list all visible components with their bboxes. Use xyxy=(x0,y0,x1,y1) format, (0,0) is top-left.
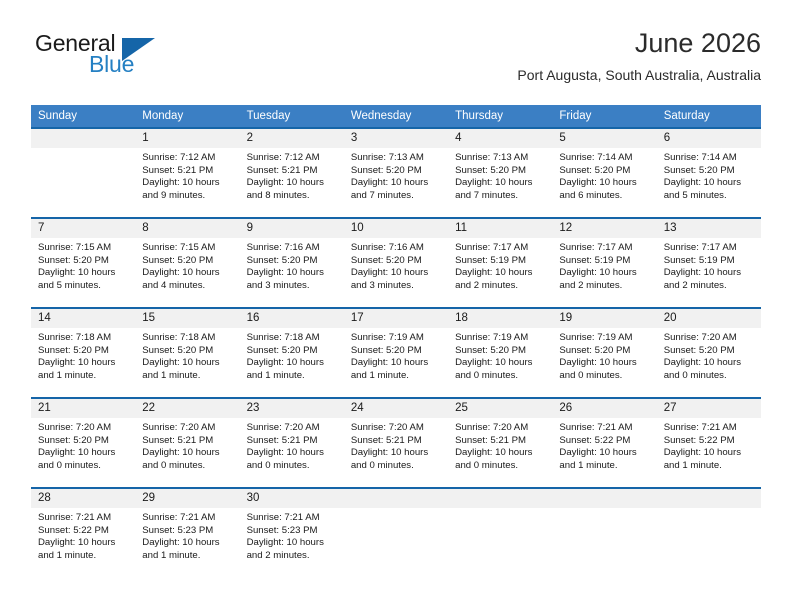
day-number: 25 xyxy=(448,399,552,418)
day-detail-sunset: Sunset: 5:21 PM xyxy=(142,165,234,178)
day-detail-sunset: Sunset: 5:21 PM xyxy=(142,435,234,448)
day-detail-daylight-2: and 1 minute. xyxy=(559,460,651,473)
calendar-day-cell[interactable]: 2Sunrise: 7:12 AMSunset: 5:21 PMDaylight… xyxy=(240,128,344,218)
day-details: Sunrise: 7:20 AMSunset: 5:21 PMDaylight:… xyxy=(135,418,239,472)
day-detail-sunrise: Sunrise: 7:13 AM xyxy=(455,152,547,165)
day-detail-daylight-2: and 5 minutes. xyxy=(38,280,130,293)
day-details: Sunrise: 7:16 AMSunset: 5:20 PMDaylight:… xyxy=(344,238,448,292)
day-detail-sunrise: Sunrise: 7:20 AM xyxy=(38,422,130,435)
day-number: 16 xyxy=(240,309,344,328)
calendar-day-cell[interactable]: 3Sunrise: 7:13 AMSunset: 5:20 PMDaylight… xyxy=(344,128,448,218)
day-detail-sunrise: Sunrise: 7:18 AM xyxy=(247,332,339,345)
day-detail-sunset: Sunset: 5:22 PM xyxy=(559,435,651,448)
day-details: Sunrise: 7:16 AMSunset: 5:20 PMDaylight:… xyxy=(240,238,344,292)
day-number: 29 xyxy=(135,489,239,508)
day-number: 5 xyxy=(552,129,656,148)
day-details: Sunrise: 7:13 AMSunset: 5:20 PMDaylight:… xyxy=(448,148,552,202)
day-detail-sunset: Sunset: 5:20 PM xyxy=(142,345,234,358)
day-detail-daylight-1: Daylight: 10 hours xyxy=(38,267,130,280)
day-detail-daylight-1: Daylight: 10 hours xyxy=(351,177,443,190)
day-detail-sunset: Sunset: 5:20 PM xyxy=(38,255,130,268)
day-detail-daylight-1: Daylight: 10 hours xyxy=(455,177,547,190)
day-detail-sunrise: Sunrise: 7:20 AM xyxy=(664,332,756,345)
day-detail-sunset: Sunset: 5:20 PM xyxy=(455,345,547,358)
calendar-empty-cell xyxy=(657,488,761,577)
day-detail-sunrise: Sunrise: 7:18 AM xyxy=(38,332,130,345)
day-details: Sunrise: 7:17 AMSunset: 5:19 PMDaylight:… xyxy=(448,238,552,292)
day-number: 17 xyxy=(344,309,448,328)
day-number: 3 xyxy=(344,129,448,148)
day-detail-sunset: Sunset: 5:21 PM xyxy=(351,435,443,448)
day-detail-sunset: Sunset: 5:20 PM xyxy=(38,435,130,448)
day-details: Sunrise: 7:12 AMSunset: 5:21 PMDaylight:… xyxy=(135,148,239,202)
day-number: 23 xyxy=(240,399,344,418)
day-detail-daylight-2: and 5 minutes. xyxy=(664,190,756,203)
day-detail-daylight-2: and 7 minutes. xyxy=(351,190,443,203)
day-details: Sunrise: 7:14 AMSunset: 5:20 PMDaylight:… xyxy=(552,148,656,202)
calendar-day-cell[interactable]: 9Sunrise: 7:16 AMSunset: 5:20 PMDaylight… xyxy=(240,218,344,308)
day-details: Sunrise: 7:15 AMSunset: 5:20 PMDaylight:… xyxy=(31,238,135,292)
day-details: Sunrise: 7:14 AMSunset: 5:20 PMDaylight:… xyxy=(657,148,761,202)
day-detail-sunset: Sunset: 5:20 PM xyxy=(455,165,547,178)
day-detail-sunset: Sunset: 5:21 PM xyxy=(247,435,339,448)
day-detail-daylight-2: and 0 minutes. xyxy=(559,370,651,383)
calendar-week-row: 14Sunrise: 7:18 AMSunset: 5:20 PMDayligh… xyxy=(31,308,761,398)
weekday-header-thursday: Thursday xyxy=(448,105,552,128)
day-detail-daylight-1: Daylight: 10 hours xyxy=(664,267,756,280)
day-details: Sunrise: 7:19 AMSunset: 5:20 PMDaylight:… xyxy=(344,328,448,382)
day-number xyxy=(657,489,761,508)
day-detail-sunset: Sunset: 5:19 PM xyxy=(664,255,756,268)
day-details: Sunrise: 7:19 AMSunset: 5:20 PMDaylight:… xyxy=(448,328,552,382)
day-details: Sunrise: 7:17 AMSunset: 5:19 PMDaylight:… xyxy=(657,238,761,292)
day-detail-sunrise: Sunrise: 7:20 AM xyxy=(142,422,234,435)
day-detail-daylight-1: Daylight: 10 hours xyxy=(247,447,339,460)
calendar-day-cell[interactable]: 21Sunrise: 7:20 AMSunset: 5:20 PMDayligh… xyxy=(31,398,135,488)
day-detail-daylight-1: Daylight: 10 hours xyxy=(455,447,547,460)
calendar-body: 1Sunrise: 7:12 AMSunset: 5:21 PMDaylight… xyxy=(31,128,761,577)
day-details: Sunrise: 7:20 AMSunset: 5:20 PMDaylight:… xyxy=(31,418,135,472)
day-number: 24 xyxy=(344,399,448,418)
day-detail-sunrise: Sunrise: 7:17 AM xyxy=(455,242,547,255)
day-detail-sunrise: Sunrise: 7:15 AM xyxy=(38,242,130,255)
day-number: 18 xyxy=(448,309,552,328)
calendar-day-cell[interactable]: 25Sunrise: 7:20 AMSunset: 5:21 PMDayligh… xyxy=(448,398,552,488)
day-detail-sunrise: Sunrise: 7:20 AM xyxy=(247,422,339,435)
day-detail-sunrise: Sunrise: 7:16 AM xyxy=(351,242,443,255)
day-detail-daylight-2: and 1 minute. xyxy=(664,460,756,473)
day-number: 20 xyxy=(657,309,761,328)
day-detail-sunrise: Sunrise: 7:20 AM xyxy=(351,422,443,435)
weekday-header-saturday: Saturday xyxy=(657,105,761,128)
day-detail-sunrise: Sunrise: 7:21 AM xyxy=(664,422,756,435)
day-detail-sunrise: Sunrise: 7:19 AM xyxy=(559,332,651,345)
calendar-week-row: 21Sunrise: 7:20 AMSunset: 5:20 PMDayligh… xyxy=(31,398,761,488)
day-detail-sunset: Sunset: 5:20 PM xyxy=(664,165,756,178)
calendar-day-cell[interactable]: 29Sunrise: 7:21 AMSunset: 5:23 PMDayligh… xyxy=(135,488,239,577)
day-number xyxy=(31,129,135,148)
day-detail-daylight-1: Daylight: 10 hours xyxy=(559,447,651,460)
day-detail-daylight-2: and 3 minutes. xyxy=(351,280,443,293)
day-detail-daylight-1: Daylight: 10 hours xyxy=(38,447,130,460)
day-detail-daylight-2: and 4 minutes. xyxy=(142,280,234,293)
calendar-empty-cell xyxy=(552,488,656,577)
calendar-day-cell[interactable]: 30Sunrise: 7:21 AMSunset: 5:23 PMDayligh… xyxy=(240,488,344,577)
day-detail-daylight-2: and 0 minutes. xyxy=(142,460,234,473)
day-detail-sunset: Sunset: 5:20 PM xyxy=(559,165,651,178)
calendar-day-cell[interactable]: 7Sunrise: 7:15 AMSunset: 5:20 PMDaylight… xyxy=(31,218,135,308)
day-details: Sunrise: 7:18 AMSunset: 5:20 PMDaylight:… xyxy=(240,328,344,382)
calendar-empty-cell xyxy=(448,488,552,577)
calendar-day-cell[interactable]: 28Sunrise: 7:21 AMSunset: 5:22 PMDayligh… xyxy=(31,488,135,577)
day-detail-sunrise: Sunrise: 7:13 AM xyxy=(351,152,443,165)
day-detail-daylight-1: Daylight: 10 hours xyxy=(247,357,339,370)
day-detail-sunset: Sunset: 5:22 PM xyxy=(38,525,130,538)
sunrise-sunset-calendar: Sunday Monday Tuesday Wednesday Thursday… xyxy=(31,105,761,577)
day-detail-daylight-1: Daylight: 10 hours xyxy=(559,357,651,370)
day-detail-sunset: Sunset: 5:22 PM xyxy=(664,435,756,448)
calendar-day-cell[interactable]: 24Sunrise: 7:20 AMSunset: 5:21 PMDayligh… xyxy=(344,398,448,488)
day-detail-daylight-2: and 0 minutes. xyxy=(247,460,339,473)
day-detail-daylight-1: Daylight: 10 hours xyxy=(455,357,547,370)
day-details: Sunrise: 7:17 AMSunset: 5:19 PMDaylight:… xyxy=(552,238,656,292)
calendar-day-cell[interactable]: 11Sunrise: 7:17 AMSunset: 5:19 PMDayligh… xyxy=(448,218,552,308)
day-detail-daylight-1: Daylight: 10 hours xyxy=(664,357,756,370)
day-detail-daylight-1: Daylight: 10 hours xyxy=(142,537,234,550)
day-detail-daylight-1: Daylight: 10 hours xyxy=(664,447,756,460)
day-detail-daylight-1: Daylight: 10 hours xyxy=(247,267,339,280)
day-detail-sunset: Sunset: 5:19 PM xyxy=(559,255,651,268)
day-number: 1 xyxy=(135,129,239,148)
calendar-day-cell[interactable]: 13Sunrise: 7:17 AMSunset: 5:19 PMDayligh… xyxy=(657,218,761,308)
calendar-day-cell[interactable]: 19Sunrise: 7:19 AMSunset: 5:20 PMDayligh… xyxy=(552,308,656,398)
day-details: Sunrise: 7:20 AMSunset: 5:21 PMDaylight:… xyxy=(344,418,448,472)
day-number: 7 xyxy=(31,219,135,238)
day-details: Sunrise: 7:21 AMSunset: 5:22 PMDaylight:… xyxy=(657,418,761,472)
calendar-day-cell[interactable]: 23Sunrise: 7:20 AMSunset: 5:21 PMDayligh… xyxy=(240,398,344,488)
day-detail-daylight-2: and 7 minutes. xyxy=(455,190,547,203)
page-header: General Blue June 2026 Port Augusta, Sou… xyxy=(31,26,761,98)
day-detail-sunrise: Sunrise: 7:21 AM xyxy=(247,512,339,525)
day-detail-daylight-2: and 3 minutes. xyxy=(247,280,339,293)
day-details: Sunrise: 7:20 AMSunset: 5:21 PMDaylight:… xyxy=(240,418,344,472)
day-detail-daylight-1: Daylight: 10 hours xyxy=(142,177,234,190)
day-detail-sunset: Sunset: 5:20 PM xyxy=(664,345,756,358)
day-details: Sunrise: 7:21 AMSunset: 5:22 PMDaylight:… xyxy=(552,418,656,472)
page-title: June 2026 xyxy=(517,26,761,60)
day-number: 27 xyxy=(657,399,761,418)
day-detail-daylight-2: and 1 minute. xyxy=(351,370,443,383)
day-detail-sunset: Sunset: 5:20 PM xyxy=(38,345,130,358)
calendar-day-cell[interactable]: 26Sunrise: 7:21 AMSunset: 5:22 PMDayligh… xyxy=(552,398,656,488)
calendar-day-cell[interactable]: 10Sunrise: 7:16 AMSunset: 5:20 PMDayligh… xyxy=(344,218,448,308)
day-details: Sunrise: 7:20 AMSunset: 5:21 PMDaylight:… xyxy=(448,418,552,472)
day-number: 6 xyxy=(657,129,761,148)
calendar-day-cell[interactable]: 4Sunrise: 7:13 AMSunset: 5:20 PMDaylight… xyxy=(448,128,552,218)
day-number: 19 xyxy=(552,309,656,328)
calendar-week-row: 7Sunrise: 7:15 AMSunset: 5:20 PMDaylight… xyxy=(31,218,761,308)
calendar-empty-cell xyxy=(31,128,135,218)
day-detail-sunset: Sunset: 5:21 PM xyxy=(455,435,547,448)
day-detail-sunset: Sunset: 5:20 PM xyxy=(351,255,443,268)
day-detail-daylight-2: and 1 minute. xyxy=(142,370,234,383)
day-details: Sunrise: 7:18 AMSunset: 5:20 PMDaylight:… xyxy=(135,328,239,382)
day-detail-sunrise: Sunrise: 7:21 AM xyxy=(559,422,651,435)
day-number: 26 xyxy=(552,399,656,418)
day-detail-daylight-1: Daylight: 10 hours xyxy=(247,537,339,550)
day-number: 8 xyxy=(135,219,239,238)
day-number: 9 xyxy=(240,219,344,238)
day-detail-daylight-2: and 1 minute. xyxy=(142,550,234,563)
day-details: Sunrise: 7:18 AMSunset: 5:20 PMDaylight:… xyxy=(31,328,135,382)
day-detail-daylight-2: and 9 minutes. xyxy=(142,190,234,203)
day-detail-sunrise: Sunrise: 7:12 AM xyxy=(247,152,339,165)
day-detail-daylight-2: and 1 minute. xyxy=(38,550,130,563)
day-number: 28 xyxy=(31,489,135,508)
weekday-header-sunday: Sunday xyxy=(31,105,135,128)
calendar-day-cell[interactable]: 17Sunrise: 7:19 AMSunset: 5:20 PMDayligh… xyxy=(344,308,448,398)
day-number: 10 xyxy=(344,219,448,238)
calendar-day-cell[interactable]: 20Sunrise: 7:20 AMSunset: 5:20 PMDayligh… xyxy=(657,308,761,398)
day-detail-daylight-2: and 0 minutes. xyxy=(38,460,130,473)
calendar-week-row: 1Sunrise: 7:12 AMSunset: 5:21 PMDaylight… xyxy=(31,128,761,218)
calendar-day-cell[interactable]: 15Sunrise: 7:18 AMSunset: 5:20 PMDayligh… xyxy=(135,308,239,398)
day-detail-sunset: Sunset: 5:19 PM xyxy=(455,255,547,268)
day-detail-sunrise: Sunrise: 7:20 AM xyxy=(455,422,547,435)
day-details: Sunrise: 7:12 AMSunset: 5:21 PMDaylight:… xyxy=(240,148,344,202)
day-detail-sunset: Sunset: 5:21 PM xyxy=(247,165,339,178)
calendar-day-cell[interactable]: 1Sunrise: 7:12 AMSunset: 5:21 PMDaylight… xyxy=(135,128,239,218)
day-detail-daylight-1: Daylight: 10 hours xyxy=(559,177,651,190)
day-detail-daylight-2: and 1 minute. xyxy=(38,370,130,383)
day-detail-daylight-1: Daylight: 10 hours xyxy=(664,177,756,190)
day-detail-daylight-1: Daylight: 10 hours xyxy=(38,537,130,550)
day-number: 15 xyxy=(135,309,239,328)
location-subtitle: Port Augusta, South Australia, Australia xyxy=(517,64,761,86)
day-detail-daylight-1: Daylight: 10 hours xyxy=(142,447,234,460)
logo-text-blue: Blue xyxy=(89,51,134,78)
day-number xyxy=(552,489,656,508)
day-detail-daylight-1: Daylight: 10 hours xyxy=(455,267,547,280)
day-detail-daylight-1: Daylight: 10 hours xyxy=(142,357,234,370)
day-detail-daylight-1: Daylight: 10 hours xyxy=(559,267,651,280)
calendar-day-cell[interactable]: 16Sunrise: 7:18 AMSunset: 5:20 PMDayligh… xyxy=(240,308,344,398)
day-detail-sunset: Sunset: 5:23 PM xyxy=(142,525,234,538)
day-detail-sunrise: Sunrise: 7:15 AM xyxy=(142,242,234,255)
day-number: 12 xyxy=(552,219,656,238)
day-detail-sunrise: Sunrise: 7:12 AM xyxy=(142,152,234,165)
day-detail-sunset: Sunset: 5:23 PM xyxy=(247,525,339,538)
day-details: Sunrise: 7:19 AMSunset: 5:20 PMDaylight:… xyxy=(552,328,656,382)
calendar-day-cell[interactable]: 6Sunrise: 7:14 AMSunset: 5:20 PMDaylight… xyxy=(657,128,761,218)
day-detail-sunrise: Sunrise: 7:14 AM xyxy=(664,152,756,165)
day-detail-daylight-2: and 2 minutes. xyxy=(559,280,651,293)
day-number: 2 xyxy=(240,129,344,148)
weekday-header-wednesday: Wednesday xyxy=(344,105,448,128)
day-detail-daylight-2: and 0 minutes. xyxy=(351,460,443,473)
day-detail-daylight-2: and 2 minutes. xyxy=(455,280,547,293)
day-detail-sunset: Sunset: 5:20 PM xyxy=(559,345,651,358)
day-detail-sunrise: Sunrise: 7:21 AM xyxy=(142,512,234,525)
day-number xyxy=(344,489,448,508)
weekday-header-monday: Monday xyxy=(135,105,239,128)
calendar-day-cell[interactable]: 12Sunrise: 7:17 AMSunset: 5:19 PMDayligh… xyxy=(552,218,656,308)
day-detail-daylight-2: and 0 minutes. xyxy=(664,370,756,383)
weekday-header-row: Sunday Monday Tuesday Wednesday Thursday… xyxy=(31,105,761,128)
day-detail-sunrise: Sunrise: 7:18 AM xyxy=(142,332,234,345)
day-detail-daylight-2: and 2 minutes. xyxy=(247,550,339,563)
calendar-day-cell[interactable]: 8Sunrise: 7:15 AMSunset: 5:20 PMDaylight… xyxy=(135,218,239,308)
day-detail-daylight-2: and 0 minutes. xyxy=(455,460,547,473)
day-detail-sunset: Sunset: 5:20 PM xyxy=(351,345,443,358)
day-detail-sunrise: Sunrise: 7:16 AM xyxy=(247,242,339,255)
calendar-week-row: 28Sunrise: 7:21 AMSunset: 5:22 PMDayligh… xyxy=(31,488,761,577)
day-detail-daylight-2: and 6 minutes. xyxy=(559,190,651,203)
day-details: Sunrise: 7:13 AMSunset: 5:20 PMDaylight:… xyxy=(344,148,448,202)
day-detail-sunrise: Sunrise: 7:14 AM xyxy=(559,152,651,165)
day-detail-sunset: Sunset: 5:20 PM xyxy=(142,255,234,268)
weekday-header-friday: Friday xyxy=(552,105,656,128)
day-detail-sunrise: Sunrise: 7:17 AM xyxy=(664,242,756,255)
day-detail-sunset: Sunset: 5:20 PM xyxy=(351,165,443,178)
day-number: 14 xyxy=(31,309,135,328)
day-number xyxy=(448,489,552,508)
day-detail-daylight-2: and 2 minutes. xyxy=(664,280,756,293)
day-detail-sunrise: Sunrise: 7:19 AM xyxy=(351,332,443,345)
day-details: Sunrise: 7:21 AMSunset: 5:23 PMDaylight:… xyxy=(240,508,344,562)
calendar-day-cell[interactable]: 14Sunrise: 7:18 AMSunset: 5:20 PMDayligh… xyxy=(31,308,135,398)
day-detail-sunrise: Sunrise: 7:19 AM xyxy=(455,332,547,345)
calendar-day-cell[interactable]: 27Sunrise: 7:21 AMSunset: 5:22 PMDayligh… xyxy=(657,398,761,488)
day-details: Sunrise: 7:15 AMSunset: 5:20 PMDaylight:… xyxy=(135,238,239,292)
day-number: 22 xyxy=(135,399,239,418)
generalblue-logo: General Blue xyxy=(31,28,221,84)
day-number: 4 xyxy=(448,129,552,148)
day-detail-daylight-1: Daylight: 10 hours xyxy=(38,357,130,370)
day-detail-daylight-1: Daylight: 10 hours xyxy=(351,267,443,280)
day-number: 13 xyxy=(657,219,761,238)
weekday-header-tuesday: Tuesday xyxy=(240,105,344,128)
day-detail-sunrise: Sunrise: 7:21 AM xyxy=(38,512,130,525)
day-detail-daylight-1: Daylight: 10 hours xyxy=(351,447,443,460)
day-detail-daylight-2: and 1 minute. xyxy=(247,370,339,383)
day-detail-daylight-1: Daylight: 10 hours xyxy=(142,267,234,280)
day-details: Sunrise: 7:21 AMSunset: 5:23 PMDaylight:… xyxy=(135,508,239,562)
day-detail-daylight-2: and 8 minutes. xyxy=(247,190,339,203)
day-detail-sunrise: Sunrise: 7:17 AM xyxy=(559,242,651,255)
title-block: June 2026 Port Augusta, South Australia,… xyxy=(517,26,761,86)
day-number: 30 xyxy=(240,489,344,508)
day-number: 21 xyxy=(31,399,135,418)
calendar-day-cell[interactable]: 22Sunrise: 7:20 AMSunset: 5:21 PMDayligh… xyxy=(135,398,239,488)
calendar-page: General Blue June 2026 Port Augusta, Sou… xyxy=(0,0,792,612)
day-detail-daylight-1: Daylight: 10 hours xyxy=(351,357,443,370)
day-number: 11 xyxy=(448,219,552,238)
calendar-day-cell[interactable]: 18Sunrise: 7:19 AMSunset: 5:20 PMDayligh… xyxy=(448,308,552,398)
day-details: Sunrise: 7:21 AMSunset: 5:22 PMDaylight:… xyxy=(31,508,135,562)
day-details: Sunrise: 7:20 AMSunset: 5:20 PMDaylight:… xyxy=(657,328,761,382)
day-detail-sunset: Sunset: 5:20 PM xyxy=(247,345,339,358)
calendar-empty-cell xyxy=(344,488,448,577)
day-detail-daylight-1: Daylight: 10 hours xyxy=(247,177,339,190)
day-detail-sunset: Sunset: 5:20 PM xyxy=(247,255,339,268)
day-detail-daylight-2: and 0 minutes. xyxy=(455,370,547,383)
calendar-day-cell[interactable]: 5Sunrise: 7:14 AMSunset: 5:20 PMDaylight… xyxy=(552,128,656,218)
